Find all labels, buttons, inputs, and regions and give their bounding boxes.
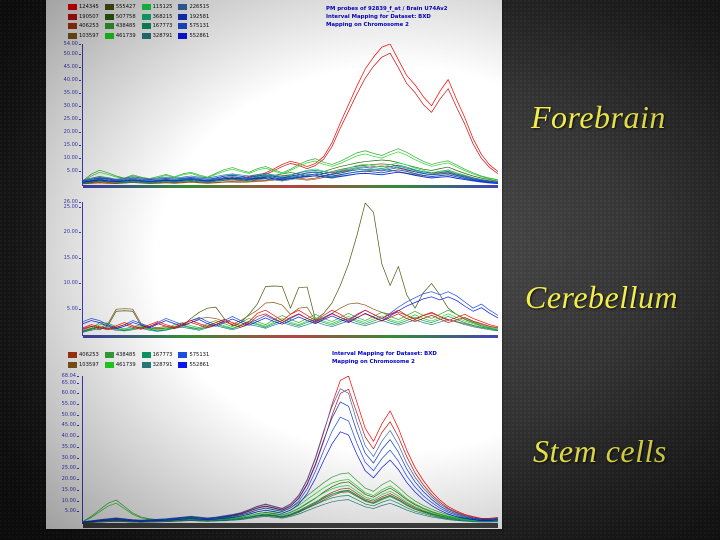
legend-item-label: 438485 <box>116 22 136 30</box>
legend-item-label: 507758 <box>116 13 136 21</box>
y-axis-tick-label: 55.00 <box>62 401 76 407</box>
legend-item[interactable]: 190507 <box>68 13 99 22</box>
legend-swatch-icon <box>68 352 77 358</box>
x-axis-stemcells <box>83 523 498 528</box>
legend-swatch-icon <box>105 23 114 29</box>
y-axis-tick-label: 54.00 <box>64 41 78 47</box>
legend-item-label: 575131 <box>189 22 209 30</box>
legend-item[interactable]: 192581 <box>178 13 209 22</box>
y-axis-tick-label: 50.00 <box>62 412 76 418</box>
y-axis-stemcells: 68.0465.0060.0055.0050.0045.0040.0035.00… <box>46 376 76 522</box>
tissue-label-forebrain: Forebrain <box>531 99 666 136</box>
legend-item-label: 328791 <box>153 32 173 40</box>
figure-panel: 1243451905074062531035975554275077584384… <box>46 0 502 529</box>
y-axis-tick-label: 40.00 <box>64 77 78 83</box>
chart-panel-cerebellum: 26.0025.0020.0015.0010.005.00 <box>46 194 502 346</box>
legend-swatch-icon <box>142 362 151 368</box>
legend-swatch-icon <box>68 23 77 29</box>
legend-item-label: 328791 <box>153 361 173 369</box>
legend-item[interactable]: 167773 <box>142 22 173 31</box>
y-axis-tick-label: 25.00 <box>64 116 78 122</box>
legend-item[interactable]: 507758 <box>105 13 136 22</box>
legend-item-label: 552861 <box>189 32 209 40</box>
caption-line-2: Mapping on Chromosome 2 <box>332 358 437 366</box>
y-axis-tick-label: 65.00 <box>62 380 76 386</box>
legend-item[interactable]: 103597 <box>68 361 99 370</box>
caption-line-1: Interval Mapping for Dataset: BXD <box>332 350 437 358</box>
trace-line <box>83 432 498 522</box>
legend-item[interactable]: 167773 <box>142 351 173 360</box>
legend-item-label: 406253 <box>79 351 99 359</box>
chart-panel-stemcells: 4062531035974384854617391677733287915751… <box>46 346 502 529</box>
legend-swatch-icon <box>178 362 187 368</box>
y-axis-tick-label: 45.00 <box>64 64 78 70</box>
legend-item-label: 190507 <box>79 13 99 21</box>
legend-stemcells: 4062531035974384854617391677733287915751… <box>68 351 209 369</box>
y-axis-tick-label: 35.00 <box>62 444 76 450</box>
legend-item[interactable]: 124345 <box>68 3 99 12</box>
legend-swatch-icon <box>178 23 187 29</box>
legend-swatch-icon <box>68 362 77 368</box>
legend-item[interactable]: 368215 <box>142 13 173 22</box>
y-axis-tick-label: 15.00 <box>64 255 78 261</box>
legend-item[interactable]: 328791 <box>142 361 173 370</box>
caption-line-1: PM probes of 92839_f_at / Brain U74Av2 <box>326 5 447 13</box>
tissue-label-cerebellum: Cerebellum <box>525 279 678 316</box>
legend-item-label: 103597 <box>79 32 99 40</box>
y-axis-tick-label: 10.00 <box>64 280 78 286</box>
legend-item[interactable]: 438485 <box>105 351 136 360</box>
legend-swatch-icon <box>178 352 187 358</box>
caption-stemcells: Interval Mapping for Dataset: BXD Mappin… <box>332 350 437 366</box>
legend-item-label: 461739 <box>116 361 136 369</box>
legend-swatch-icon <box>68 4 77 10</box>
legend-swatch-icon <box>142 23 151 29</box>
legend-item-label: 167773 <box>153 351 173 359</box>
legend-item-label: 124345 <box>79 3 99 11</box>
legend-item[interactable]: 328791 <box>142 32 173 41</box>
y-axis-tick-label: 68.04 <box>62 373 76 379</box>
trace-line <box>83 44 498 182</box>
legend-item-label: 555427 <box>116 3 136 11</box>
legend-item-label: 192581 <box>189 13 209 21</box>
y-axis-tick-label: 60.00 <box>62 390 76 396</box>
legend-item-label: 167773 <box>153 22 173 30</box>
legend-swatch-icon <box>68 33 77 39</box>
y-axis-tick-label: 50.00 <box>64 51 78 57</box>
chart-panel-forebrain: 1243451905074062531035975554275077584384… <box>46 0 502 194</box>
legend-item[interactable]: 103597 <box>68 32 99 41</box>
y-axis-tick-label: 15.00 <box>62 487 76 493</box>
legend-item[interactable]: 406253 <box>68 22 99 31</box>
legend-item-label: 226515 <box>189 3 209 11</box>
legend-item-label: 575131 <box>189 351 209 359</box>
legend-swatch-icon <box>178 33 187 39</box>
y-axis-cerebellum: 26.0025.0020.0015.0010.005.00 <box>48 202 78 334</box>
legend-item[interactable]: 552861 <box>178 32 209 41</box>
legend-swatch-icon <box>105 362 114 368</box>
legend-item[interactable]: 555427 <box>105 3 136 12</box>
legend-item[interactable]: 575131 <box>178 351 209 360</box>
x-axis-forebrain <box>83 185 498 188</box>
legend-item-label: 438485 <box>116 351 136 359</box>
legend-item-label: 406253 <box>79 22 99 30</box>
legend-swatch-icon <box>105 33 114 39</box>
legend-item[interactable]: 438485 <box>105 22 136 31</box>
x-axis-cerebellum <box>83 335 498 338</box>
legend-item[interactable]: 461739 <box>105 361 136 370</box>
y-axis-tick-label: 20.00 <box>64 129 78 135</box>
presentation-slide: Tissue differences in probe performance … <box>0 0 720 540</box>
legend-swatch-icon <box>142 33 151 39</box>
y-axis-tick-label: 10.00 <box>64 155 78 161</box>
y-axis-tick-label: 35.00 <box>64 90 78 96</box>
y-axis-tick-label: 40.00 <box>62 433 76 439</box>
y-axis-tick-label: 5.00 <box>67 168 78 174</box>
legend-swatch-icon <box>178 14 187 20</box>
y-axis-tick-label: 10.00 <box>62 498 76 504</box>
tissue-label-stemcells: Stem cells <box>533 433 667 470</box>
y-axis-tick-label: 20.00 <box>62 476 76 482</box>
legend-swatch-icon <box>142 4 151 10</box>
legend-item[interactable]: 226515 <box>178 3 209 12</box>
y-axis-tick-label: 45.00 <box>62 422 76 428</box>
trace-line <box>83 389 498 522</box>
legend-item[interactable]: 552861 <box>178 361 209 370</box>
y-axis-tick-label: 30.00 <box>64 103 78 109</box>
legend-swatch-icon <box>68 14 77 20</box>
legend-item-label: 115125 <box>153 3 173 11</box>
y-axis-tick-label: 20.00 <box>64 229 78 235</box>
y-axis-tick-label: 5.00 <box>65 508 76 514</box>
legend-item[interactable]: 115125 <box>142 3 173 12</box>
trace-line <box>83 389 498 522</box>
legend-swatch-icon <box>142 14 151 20</box>
y-axis-tick-label: 5.00 <box>67 306 78 312</box>
caption-line-3: Mapping on Chromosome 2 <box>326 21 447 29</box>
legend-item[interactable]: 461739 <box>105 32 136 41</box>
legend-item-label: 461739 <box>116 32 136 40</box>
caption-line-2: Interval Mapping for Dataset: BXD <box>326 13 447 21</box>
y-axis-tick-label: 25.00 <box>64 204 78 210</box>
trace-line <box>83 203 498 331</box>
legend-swatch-icon <box>178 4 187 10</box>
y-axis-tick-label: 15.00 <box>64 142 78 148</box>
legend-item[interactable]: 575131 <box>178 22 209 31</box>
legend-item-label: 552861 <box>189 361 209 369</box>
traces-forebrain <box>83 44 498 186</box>
legend-swatch-icon <box>105 352 114 358</box>
legend-item-label: 368215 <box>153 13 173 21</box>
y-axis-forebrain: 54.0050.0045.0040.0035.0030.0025.0020.00… <box>48 44 78 184</box>
traces-stemcells <box>83 376 498 524</box>
legend-swatch-icon <box>105 4 114 10</box>
legend-swatch-icon <box>105 14 114 20</box>
y-axis-tick-label: 25.00 <box>62 465 76 471</box>
legend-swatch-icon <box>142 352 151 358</box>
legend-item[interactable]: 406253 <box>68 351 99 360</box>
legend-item-label: 103597 <box>79 361 99 369</box>
y-axis-tick-label: 30.00 <box>62 455 76 461</box>
traces-cerebellum <box>83 202 498 336</box>
legend-forebrain: 1243451905074062531035975554275077584384… <box>68 3 209 40</box>
caption-forebrain: PM probes of 92839_f_at / Brain U74Av2 I… <box>326 5 447 29</box>
